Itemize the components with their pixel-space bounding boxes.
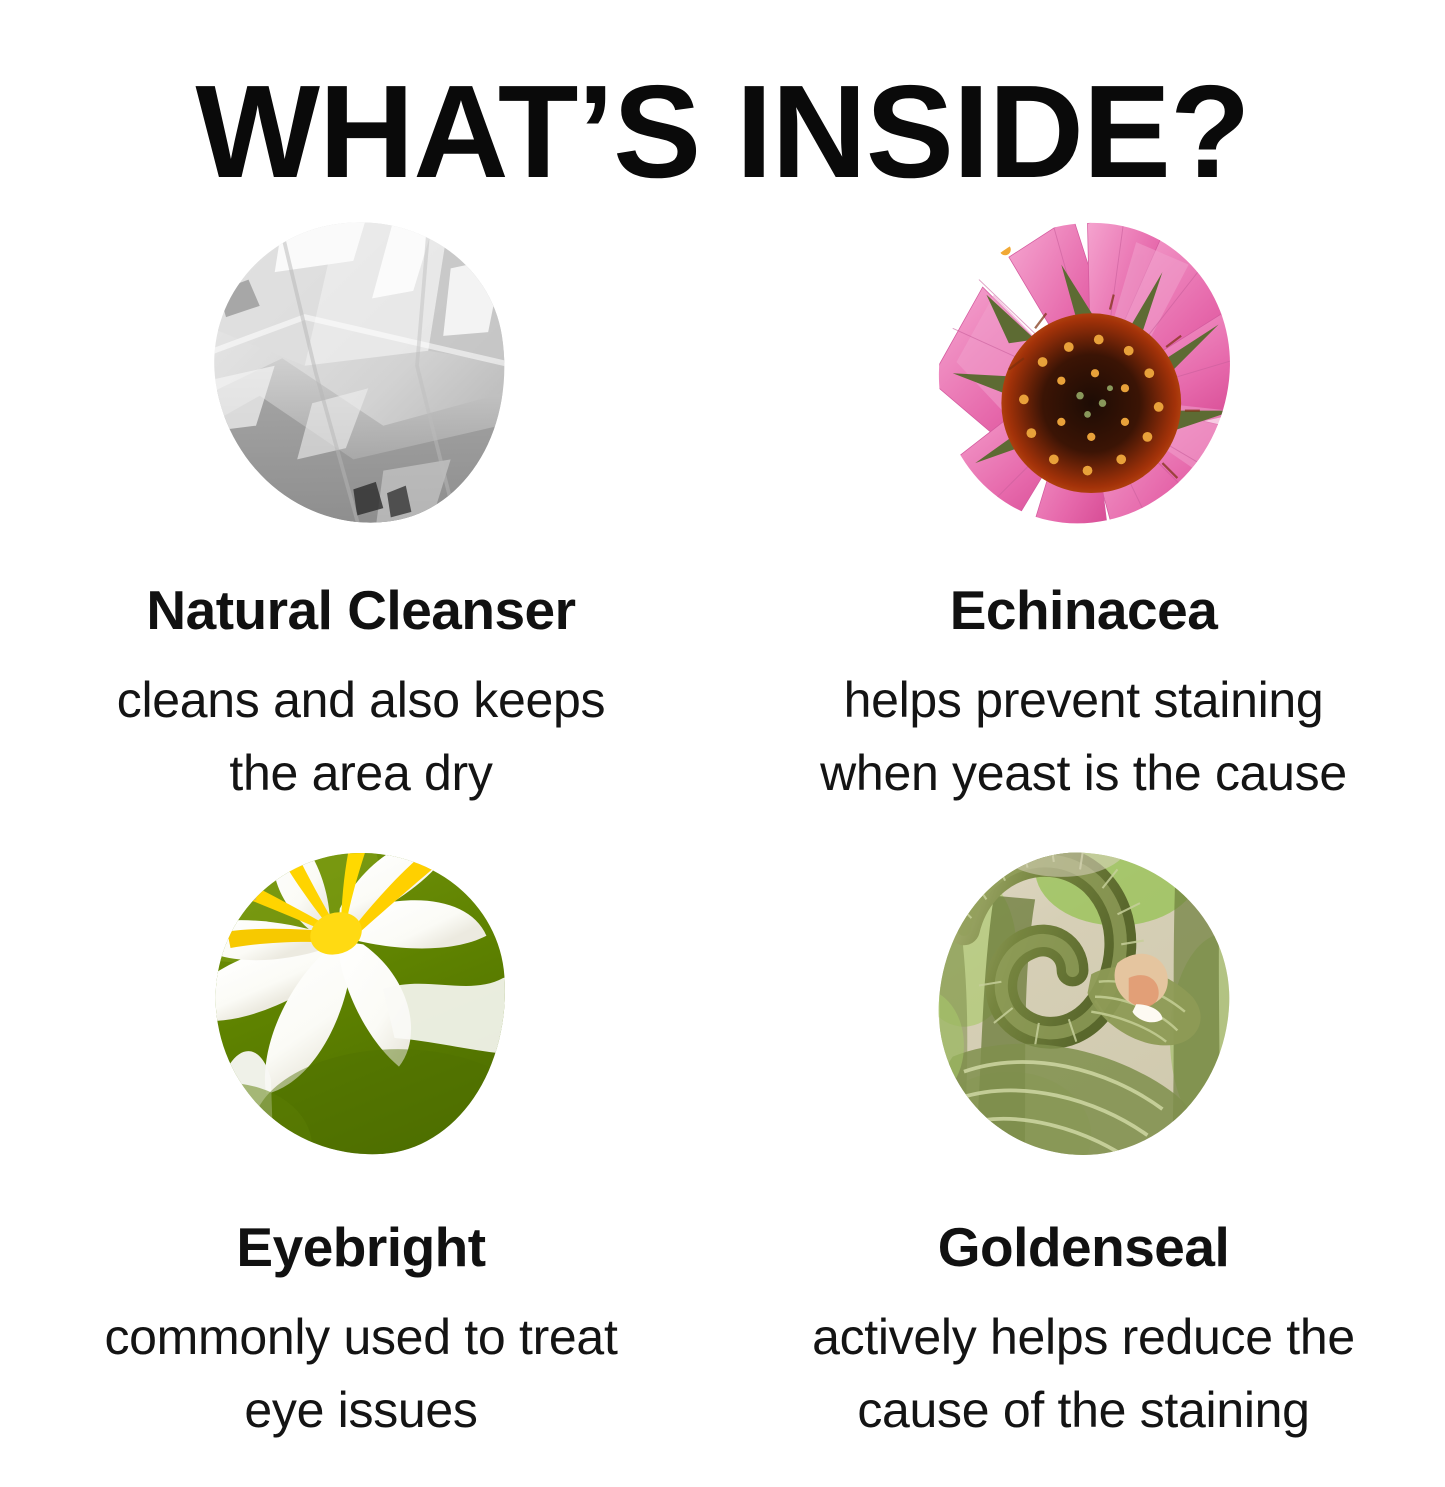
whats-inside-infographic: WHAT’S INSIDE? <box>0 0 1445 1487</box>
ingredient-description: actively helps reduce the cause of the s… <box>812 1301 1355 1446</box>
echinacea-flower-artwork <box>924 208 1244 539</box>
ingredient-description: helps prevent staining when yeast is the… <box>820 664 1347 809</box>
ingredient-name: Echinacea <box>950 583 1218 638</box>
ingredient-card-natural-cleanser: Natural Cleanser cleans and also keeps t… <box>0 175 722 830</box>
ingredient-card-eyebright: Eyebright commonly used to treat eye iss… <box>0 830 722 1450</box>
quartz-crystal-artwork <box>194 201 528 545</box>
thumbnail-wrapper <box>211 848 511 1160</box>
ingredient-card-goldenseal: Goldenseal actively helps reduce the cau… <box>722 830 1445 1450</box>
thumbnail-wrapper <box>211 217 511 529</box>
echinacea-flower-photo <box>924 208 1244 539</box>
ingredient-name: Natural Cleanser <box>146 583 575 638</box>
ingredient-card-echinacea: Echinacea helps prevent staining when ye… <box>722 175 1445 830</box>
ingredient-description: cleans and also keeps the area dry <box>117 664 605 809</box>
thumbnail-wrapper <box>934 848 1234 1160</box>
quartz-crystal-photo <box>194 201 528 545</box>
eyebright-flower-artwork <box>206 843 516 1164</box>
goldenseal-plant-photo <box>931 846 1236 1163</box>
eyebright-flower-photo <box>206 843 516 1164</box>
ingredient-name: Eyebright <box>236 1220 485 1275</box>
ingredient-description: commonly used to treat eye issues <box>104 1301 617 1446</box>
goldenseal-plant-artwork <box>931 846 1236 1163</box>
ingredient-name: Goldenseal <box>938 1220 1229 1275</box>
thumbnail-wrapper <box>934 217 1234 529</box>
ingredient-grid: Natural Cleanser cleans and also keeps t… <box>0 175 1445 1450</box>
